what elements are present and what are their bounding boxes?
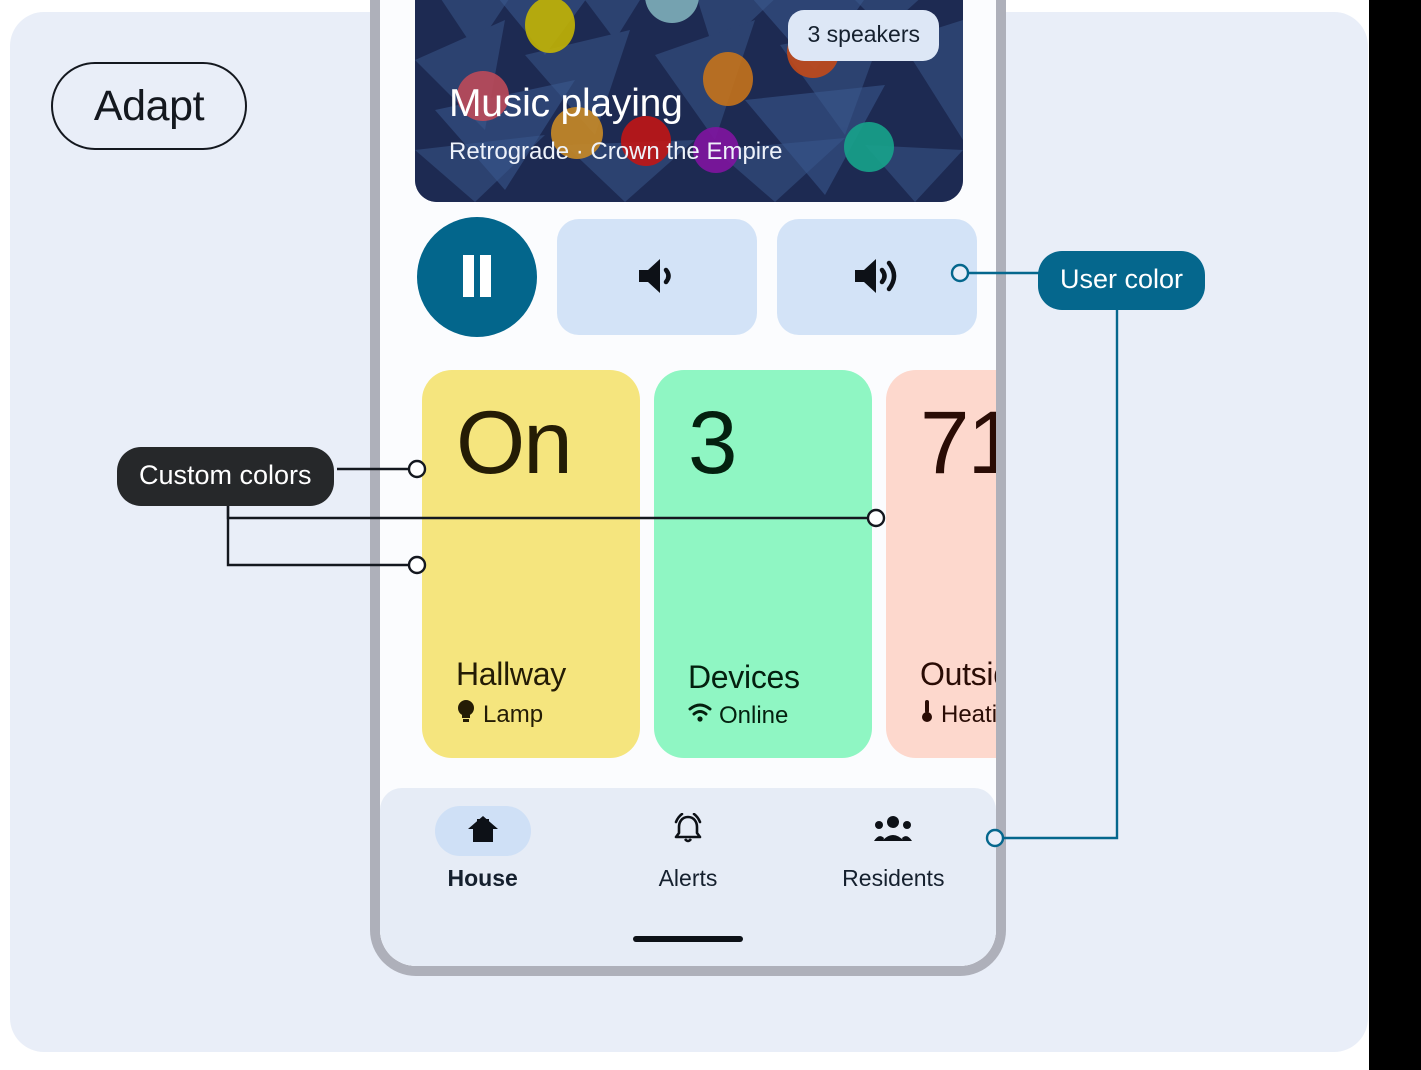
wifi-icon <box>688 702 712 730</box>
home-indicator <box>633 936 743 942</box>
phone-screen: 3 speakers Music playing Retrograde · Cr… <box>380 0 996 966</box>
tile-name: Devices <box>688 659 800 696</box>
nav-label-alerts: Alerts <box>659 865 718 892</box>
tile-value: 71 <box>920 398 1006 487</box>
volume-down-icon <box>635 256 679 299</box>
tile-value: 3 <box>688 398 736 487</box>
tile-status: Online <box>688 702 800 730</box>
nav-label-residents: Residents <box>842 865 944 892</box>
lamp-icon <box>456 699 476 730</box>
group-people-icon <box>874 815 912 848</box>
home-icon <box>467 814 499 849</box>
right-gutter <box>1369 0 1421 1070</box>
thermometer-icon <box>920 699 934 730</box>
nav-pill-residents <box>845 806 941 856</box>
nav-label-house: House <box>448 865 518 892</box>
pause-button[interactable] <box>417 217 537 337</box>
music-card[interactable]: 3 speakers Music playing Retrograde · Cr… <box>415 0 963 202</box>
tile-footer: Devices Online <box>688 659 800 730</box>
tile-status: Lamp <box>456 699 566 730</box>
tile-status-label: Lamp <box>483 701 543 729</box>
nav-item-residents[interactable]: Residents <box>791 788 996 920</box>
volume-up-button[interactable] <box>777 219 977 335</box>
nav-pill-house <box>435 806 531 856</box>
nav-item-house[interactable]: House <box>380 788 585 920</box>
volume-down-button[interactable] <box>557 219 757 335</box>
tile-hallway[interactable]: On Hallway Lamp <box>422 370 640 758</box>
tile-name: Outside <box>920 656 1006 693</box>
phone-frame: 3 speakers Music playing Retrograde · Cr… <box>370 0 1006 976</box>
nav-pill-alerts <box>640 806 736 856</box>
tile-status: Heating <box>920 699 1006 730</box>
tile-footer: Hallway Lamp <box>456 656 566 730</box>
bell-ringing-icon <box>671 813 705 850</box>
nav-item-alerts[interactable]: Alerts <box>585 788 790 920</box>
tile-outside[interactable]: 71 Outside Heating <box>886 370 1006 758</box>
tile-status-label: Online <box>719 702 788 730</box>
music-title: Music playing <box>449 82 683 126</box>
tile-name: Hallway <box>456 656 566 693</box>
bottom-navigation: House <box>380 788 996 966</box>
tile-devices[interactable]: 3 Devices Online <box>654 370 872 758</box>
music-subtitle: Retrograde · Crown the Empire <box>449 138 782 166</box>
transport-controls <box>417 217 977 337</box>
tile-value: On <box>456 398 571 487</box>
volume-up-icon <box>851 256 903 299</box>
tile-row: On Hallway Lamp <box>422 370 1006 758</box>
pause-icon <box>460 255 494 300</box>
speakers-badge: 3 speakers <box>788 10 939 61</box>
tile-status-label: Heating <box>941 701 1006 729</box>
music-note-icon <box>460 0 504 13</box>
adapt-chip[interactable]: Adapt <box>51 62 247 150</box>
screenshot-root: Adapt <box>0 0 1421 1070</box>
adapt-chip-label: Adapt <box>94 82 204 131</box>
tile-footer: Outside Heating <box>920 656 1006 730</box>
